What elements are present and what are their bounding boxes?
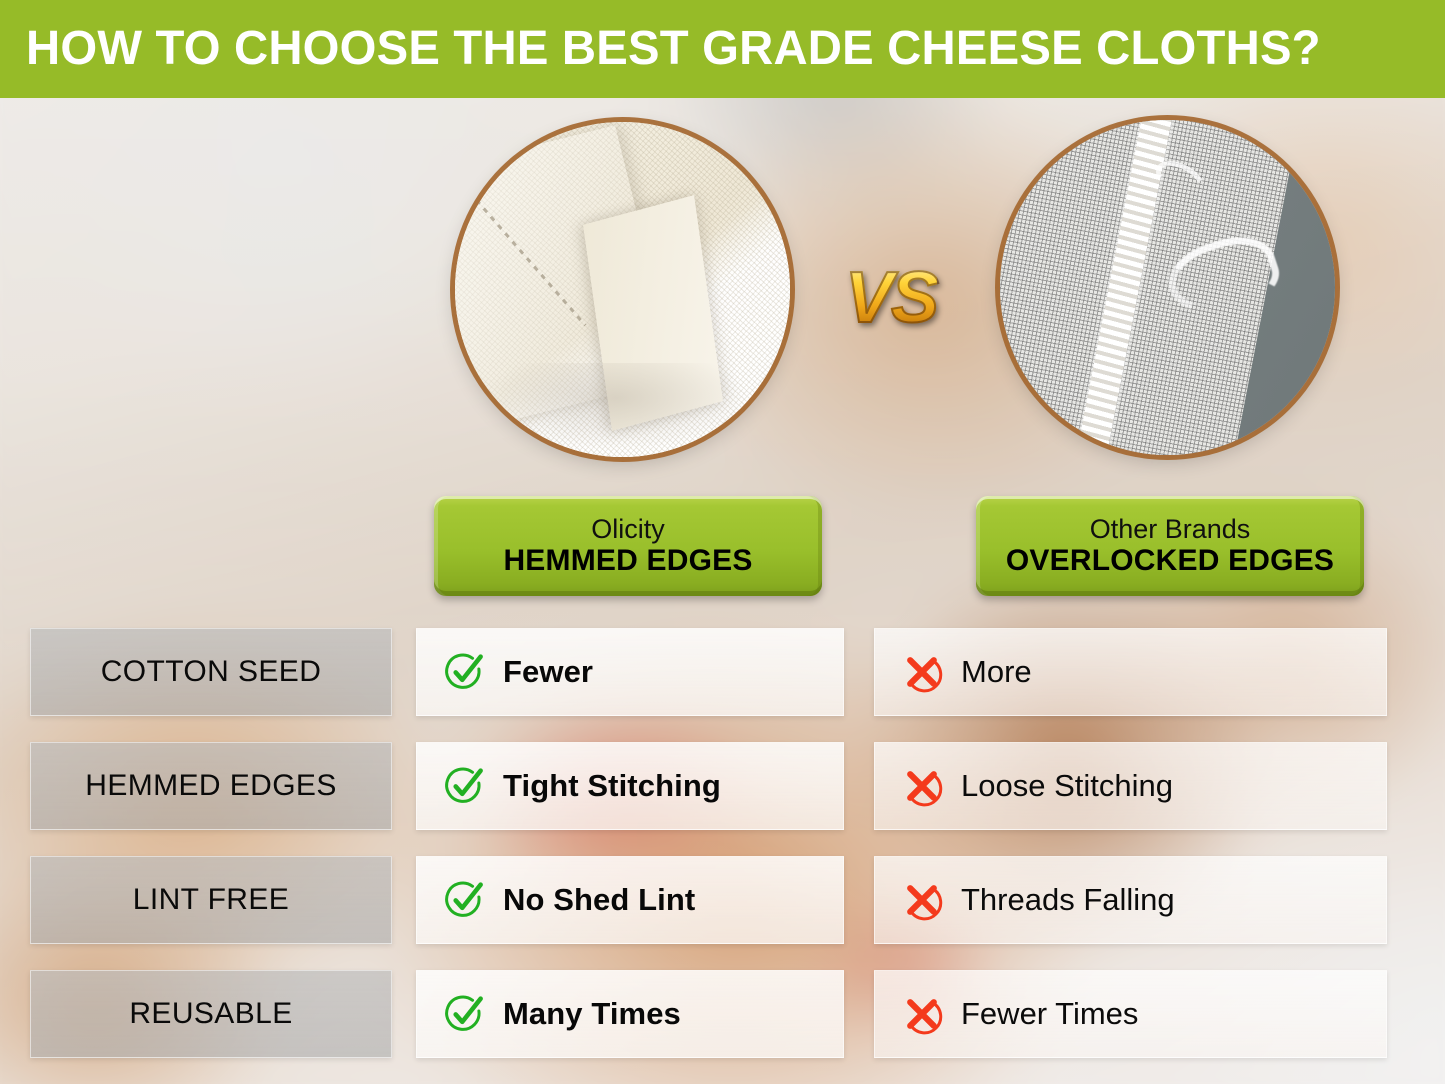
olicity-value-cell: Many Times: [416, 970, 844, 1058]
olicity-value-cell: Tight Stitching: [416, 742, 844, 830]
feature-cell: LINT FREE: [30, 856, 392, 944]
table-row: COTTON SEED Fewer More: [0, 628, 1445, 742]
table-row: LINT FREE No Shed Lint Threads Falling: [0, 856, 1445, 970]
olicity-edge-label: HEMMED EDGES: [503, 544, 752, 578]
comparison-table: COTTON SEED Fewer More HEMMED EDGES: [0, 628, 1445, 1084]
other-brands-value-cell: More: [874, 628, 1387, 716]
header-banner: HOW TO CHOOSE THE BEST GRADE CHEESE CLOT…: [0, 0, 1445, 98]
feature-label: REUSABLE: [129, 997, 292, 1031]
column-header-olicity: Olicity HEMMED EDGES: [434, 496, 822, 596]
feature-label: LINT FREE: [133, 883, 289, 917]
feature-cell: HEMMED EDGES: [30, 742, 392, 830]
olicity-value-cell: Fewer: [416, 628, 844, 716]
check-circle-icon: [443, 879, 485, 921]
product-image-hemmed-edges: [455, 122, 790, 457]
other-brands-value-label: Threads Falling: [961, 882, 1175, 918]
check-circle-icon: [443, 651, 485, 693]
cloth-shadow: [482, 363, 750, 450]
page-title: HOW TO CHOOSE THE BEST GRADE CHEESE CLOT…: [26, 25, 1321, 73]
table-row: HEMMED EDGES Tight Stitching Loose Stitc…: [0, 742, 1445, 856]
other-brands-value-label: Fewer Times: [961, 996, 1138, 1032]
other-brands-edge-label: OVERLOCKED EDGES: [1006, 544, 1334, 578]
product-image-overlocked-edges: [1000, 120, 1335, 455]
x-circle-icon: [901, 993, 943, 1035]
check-circle-icon: [443, 993, 485, 1035]
hemmed-cloth-texture: [455, 122, 790, 457]
feature-cell: COTTON SEED: [30, 628, 392, 716]
other-brands-value-cell: Fewer Times: [874, 970, 1387, 1058]
other-brands-value-cell: Threads Falling: [874, 856, 1387, 944]
other-brands-label: Other Brands: [1090, 515, 1251, 544]
x-circle-icon: [901, 879, 943, 921]
other-brands-value-label: More: [961, 654, 1032, 690]
overlocked-cloth-texture: [1000, 120, 1335, 455]
olicity-value-cell: No Shed Lint: [416, 856, 844, 944]
feature-label: COTTON SEED: [101, 655, 322, 689]
feature-label: HEMMED EDGES: [85, 769, 337, 803]
comparison-infographic: HOW TO CHOOSE THE BEST GRADE CHEESE CLOT…: [0, 0, 1445, 1084]
other-brands-value-cell: Loose Stitching: [874, 742, 1387, 830]
olicity-value-label: Many Times: [503, 996, 681, 1032]
other-brands-value-label: Loose Stitching: [961, 768, 1173, 804]
versus-badge: VS: [845, 262, 937, 334]
check-circle-icon: [443, 765, 485, 807]
olicity-value-label: Fewer: [503, 654, 593, 690]
x-circle-icon: [901, 651, 943, 693]
olicity-value-label: No Shed Lint: [503, 882, 695, 918]
feature-cell: REUSABLE: [30, 970, 392, 1058]
olicity-brand-label: Olicity: [591, 515, 665, 544]
x-circle-icon: [901, 765, 943, 807]
table-row: REUSABLE Many Times Fewer Times: [0, 970, 1445, 1084]
olicity-value-label: Tight Stitching: [503, 768, 721, 804]
column-header-other-brands: Other Brands OVERLOCKED EDGES: [976, 496, 1364, 596]
